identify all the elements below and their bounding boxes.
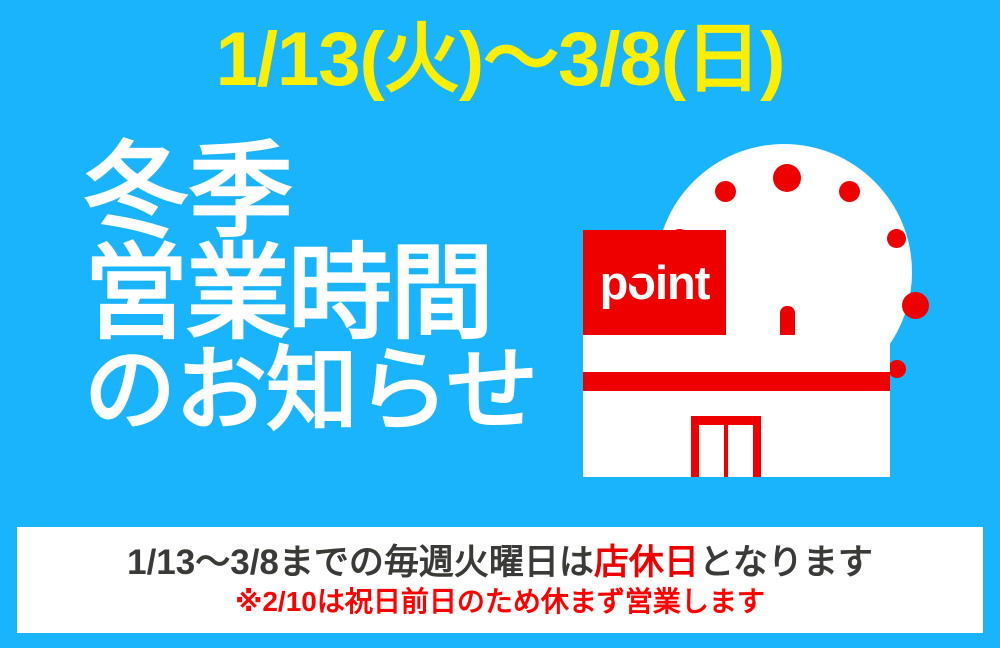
- point-logo-text: point: [600, 256, 710, 309]
- notice-highlight: 毎週火曜日: [384, 545, 559, 580]
- notice-middle: は: [559, 543, 594, 582]
- winter-hours-banner: 1/13(火)〜3/8(日) 冬季 営業時間 のお知らせ point: [0, 0, 1000, 648]
- headline-line-2: 営業時間: [84, 244, 564, 346]
- store-sign: point: [583, 230, 726, 335]
- headline-line-1: 冬季: [84, 142, 564, 244]
- notice-prefix: 1/13〜3/8までの: [127, 543, 384, 582]
- notice-suffix: となります: [699, 543, 873, 582]
- door-panel-right: [728, 425, 753, 477]
- store-door: [691, 416, 761, 477]
- page-title: 冬季 営業時間 のお知らせ: [84, 142, 564, 436]
- headline-line-3: のお知らせ: [84, 346, 564, 436]
- date-range-heading: 1/13(火)〜3/8(日): [0, 22, 1000, 98]
- notice-box: 1/13〜3/8までの毎週火曜日は店休日となります ※2/10は祝日前日のため休…: [17, 527, 983, 633]
- notice-primary-line: 1/13〜3/8までの毎週火曜日は店休日となります: [127, 545, 873, 580]
- store-clock-illustration: point: [560, 128, 960, 500]
- point-logo: point: [600, 259, 710, 306]
- notice-emphasis: 店休日: [594, 543, 699, 582]
- store-building: point: [560, 128, 960, 500]
- store-stripe: [583, 372, 890, 391]
- notice-secondary-line: ※2/10は祝日前日のため休まず営業します: [235, 588, 765, 616]
- door-panel-left: [699, 425, 724, 477]
